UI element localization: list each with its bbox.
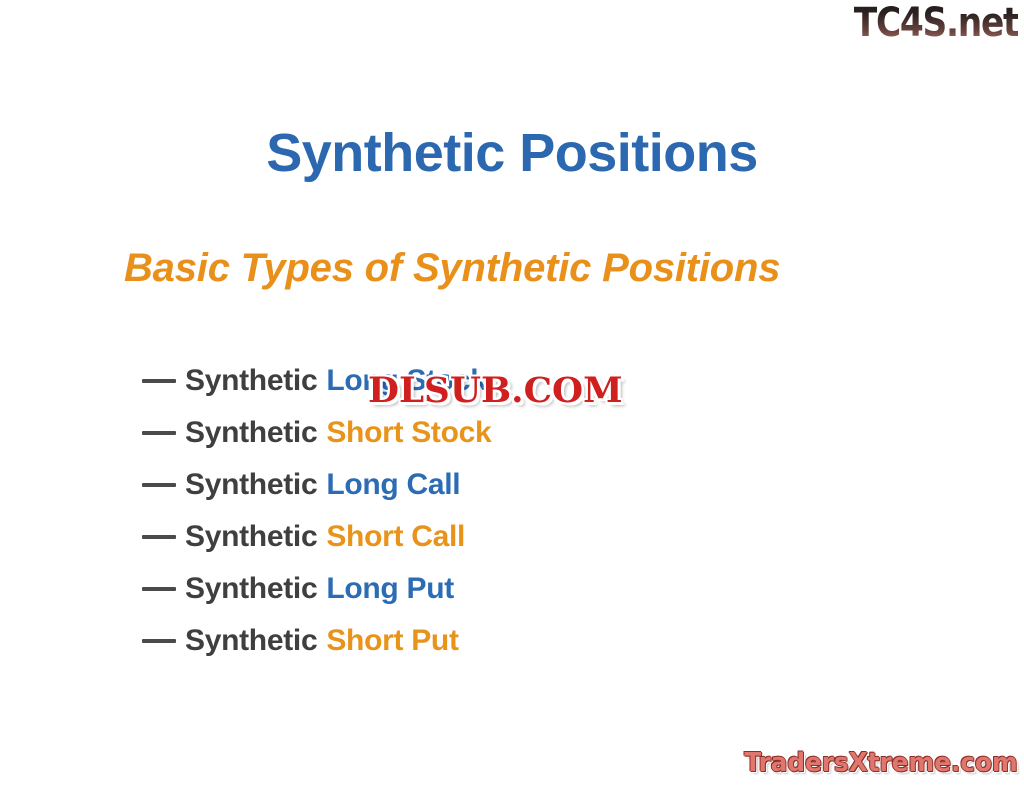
em-dash-bullet-icon (142, 483, 176, 487)
list-item: SyntheticShort Call (142, 511, 782, 563)
em-dash-bullet-icon (142, 587, 176, 591)
em-dash-bullet-icon (142, 535, 176, 539)
list-item-label: Synthetic (185, 416, 317, 450)
em-dash-bullet-icon (142, 639, 176, 643)
dlsub-watermark: DLSUB.COM (368, 370, 623, 411)
list-item-label: Synthetic (185, 520, 317, 554)
list-item-value: Long Call (326, 468, 460, 502)
page-subtitle: Basic Types of Synthetic Positions (124, 246, 780, 291)
slide-canvas: TC4S.net Synthetic Positions Basic Types… (0, 0, 1024, 791)
list-item-value: Short Stock (326, 416, 491, 450)
list-item-value: Short Put (326, 624, 458, 658)
em-dash-bullet-icon (142, 379, 176, 383)
tradersxtreme-watermark: TradersXtreme.com (745, 748, 1018, 778)
list-item-label: Synthetic (185, 364, 317, 398)
em-dash-bullet-icon (142, 431, 176, 435)
list-item-label: Synthetic (185, 624, 317, 658)
list-item: SyntheticShort Put (142, 615, 782, 667)
tc4s-brand-logo: TC4S.net (854, 2, 1018, 44)
list-item: SyntheticLong Call (142, 459, 782, 511)
list-item-value: Short Call (326, 520, 465, 554)
list-item-label: Synthetic (185, 468, 317, 502)
page-title: Synthetic Positions (0, 122, 1024, 184)
list-item-label: Synthetic (185, 572, 317, 606)
list-item: SyntheticLong Put (142, 563, 782, 615)
list-item-value: Long Put (326, 572, 454, 606)
list-item: SyntheticShort Stock (142, 407, 782, 459)
